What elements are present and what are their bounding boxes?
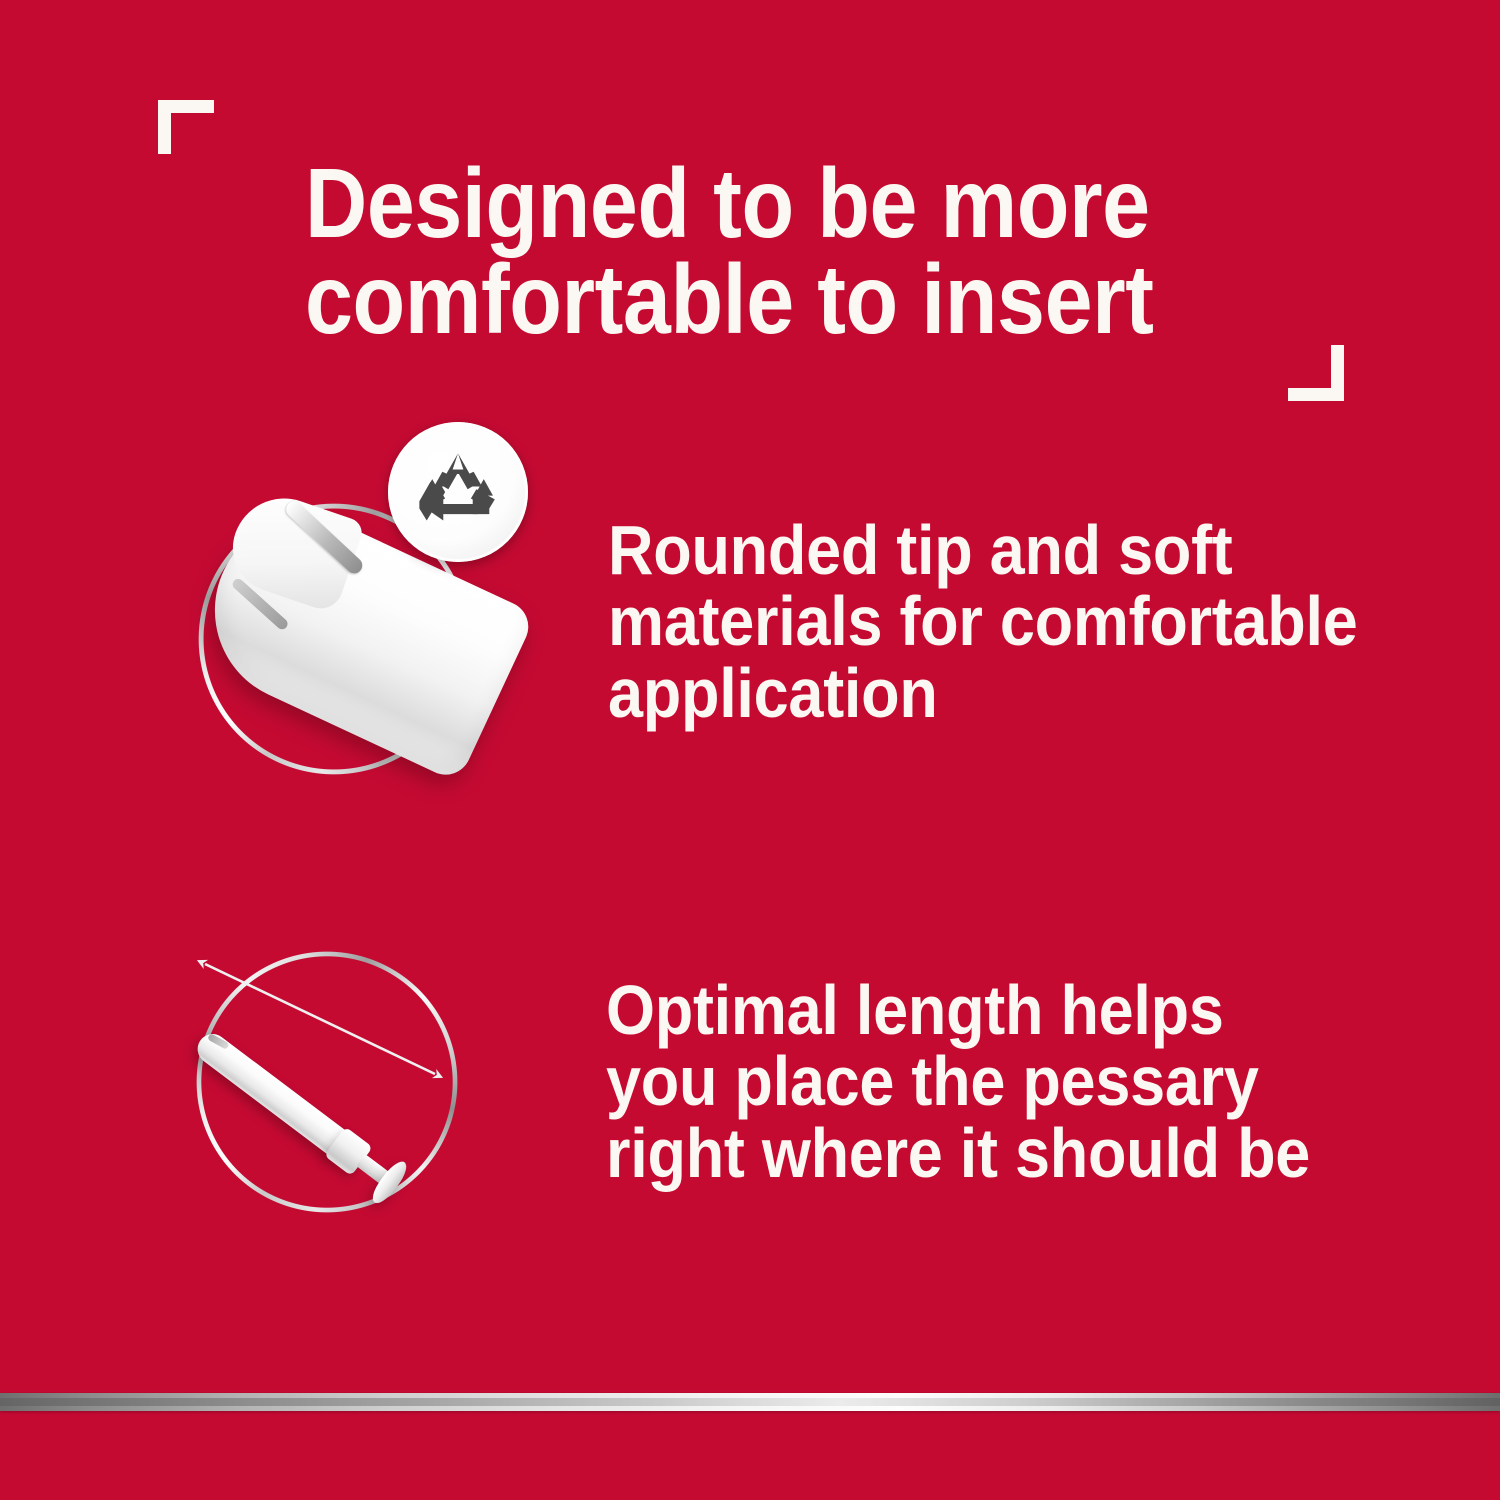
silver-divider-bar (0, 1393, 1500, 1411)
product-image-circle-length (143, 898, 511, 1266)
corner-bracket-top-left (158, 100, 214, 154)
page-headline: Designed to be more comfortable to inser… (305, 155, 1194, 347)
feature-text-optimal-length: Optimal length helps you place the pessa… (606, 975, 1416, 1189)
feature-text-line-2: you place the pessary (606, 1046, 1416, 1117)
bracket-vertical-arm (1331, 345, 1344, 401)
feature-rounded-tip: Rounded tip and soft materials for comfo… (0, 430, 1500, 860)
feature-text-line-1: Rounded tip and soft (608, 515, 1472, 586)
bracket-vertical-arm (158, 100, 171, 154)
feature-text-rounded-tip: Rounded tip and soft materials for comfo… (608, 515, 1472, 729)
feature-text-line-3: application (608, 658, 1472, 729)
recycle-icon (412, 446, 504, 538)
feature-optimal-length: Optimal length helps you place the pessa… (0, 890, 1500, 1300)
recycle-badge (388, 422, 528, 562)
feature-text-line-1: Optimal length helps (606, 975, 1416, 1046)
headline-line-1: Designed to be more (305, 155, 1194, 251)
feature-text-line-2: materials for comfortable (608, 586, 1472, 657)
feature-text-line-3: right where it should be (606, 1118, 1416, 1189)
headline-line-2: comfortable to insert (305, 251, 1194, 347)
silver-bar-core (0, 1398, 1500, 1406)
corner-bracket-bottom-right (1288, 345, 1344, 401)
